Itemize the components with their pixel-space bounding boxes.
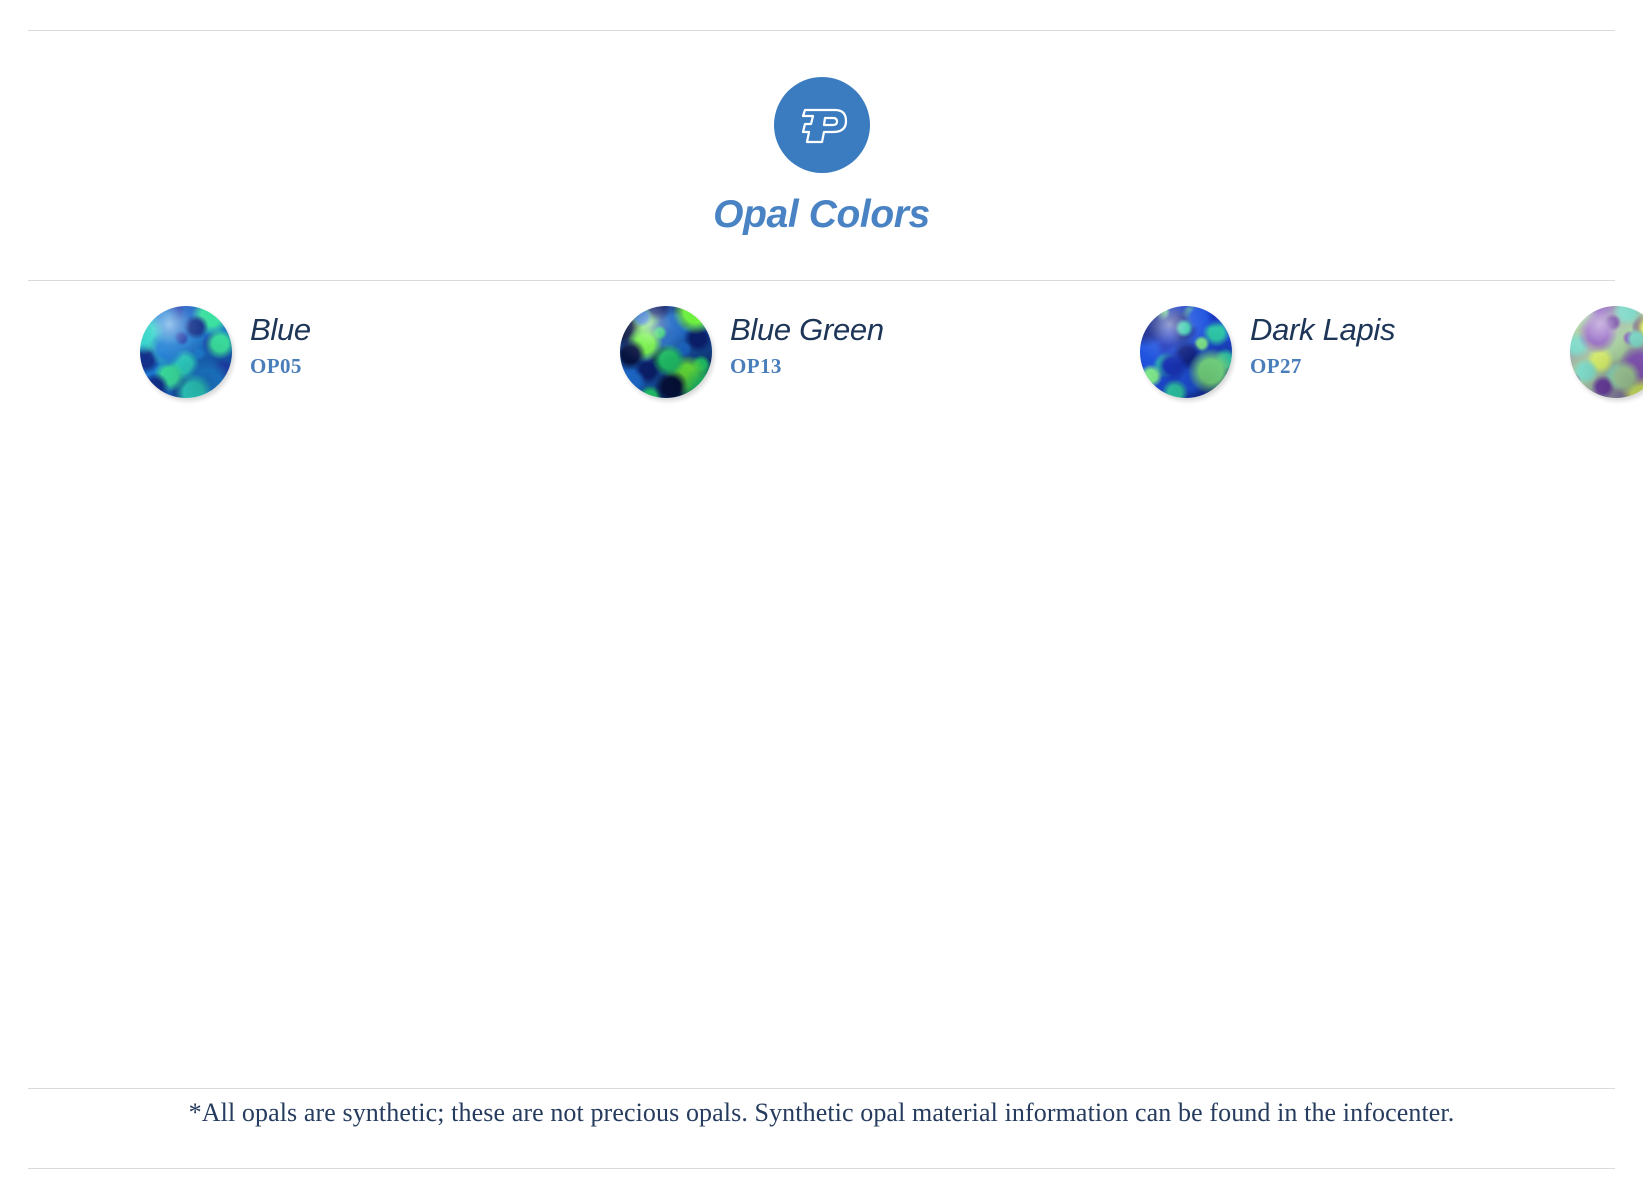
opal-colors-page: Opal Colors BlueOP05Blue GreenOP13Dark L… (0, 0, 1643, 1200)
page-title: Opal Colors (713, 195, 930, 234)
swatch-code: OP27 (1250, 354, 1395, 379)
divider-above-footnote (28, 1088, 1615, 1089)
swatch-name: Blue (250, 314, 311, 347)
swatch-labels: Dark LapisOP27 (1250, 300, 1395, 379)
opal-bead-icon (1570, 306, 1643, 398)
swatch-labels: Blue GreenOP13 (730, 300, 884, 379)
swatch-item[interactable]: Blue GreenOP13 (620, 300, 1140, 425)
swatch-code: OP13 (730, 354, 884, 379)
swatch-item[interactable]: BlueOP05 (140, 300, 620, 425)
swatch-grid: BlueOP05Blue GreenOP13Dark LapisOP27Deep… (140, 300, 1570, 425)
opal-bead-icon (1140, 306, 1232, 398)
swatch-item[interactable]: Deep VioletOP40 (1570, 300, 1643, 425)
divider-under-title (28, 280, 1615, 281)
swatch-code: OP05 (250, 354, 311, 379)
opal-bead-icon (140, 306, 232, 398)
page-header: Opal Colors (0, 30, 1643, 280)
swatch-item[interactable]: Dark LapisOP27 (1140, 300, 1570, 425)
swatch-name: Blue Green (730, 314, 884, 347)
footnote-text: *All opals are synthetic; these are not … (0, 1098, 1643, 1128)
opal-bead-icon (620, 306, 712, 398)
divider-below-footnote (28, 1168, 1615, 1169)
swatch-name: Dark Lapis (1250, 314, 1395, 347)
brand-p-logo-icon (774, 77, 870, 173)
swatch-labels: BlueOP05 (250, 300, 311, 379)
